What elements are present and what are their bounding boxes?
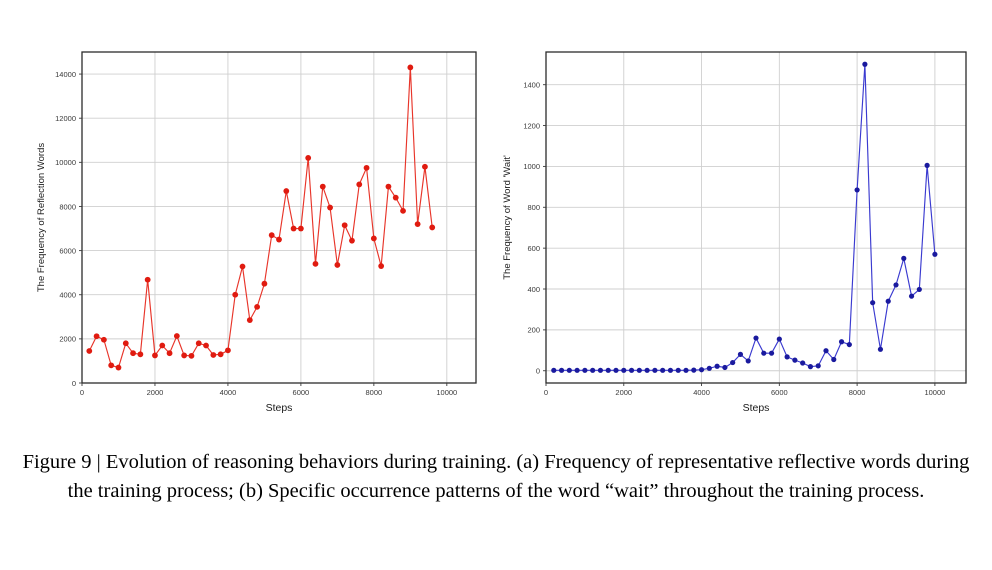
data-point	[218, 351, 224, 357]
data-point	[327, 205, 333, 211]
x-tick-label: 6000	[293, 388, 310, 397]
data-point	[769, 351, 774, 356]
data-point	[86, 348, 92, 354]
data-point	[342, 222, 348, 228]
y-tick-label: 200	[527, 326, 540, 335]
data-point	[189, 353, 195, 359]
data-point	[225, 347, 231, 353]
data-point	[181, 353, 187, 359]
data-point	[582, 368, 587, 373]
data-point	[668, 368, 673, 373]
data-point	[145, 277, 151, 283]
data-point	[699, 367, 704, 372]
data-point	[613, 368, 618, 373]
data-point	[210, 352, 216, 358]
data-point	[590, 368, 595, 373]
data-point	[232, 292, 238, 298]
data-point	[753, 335, 758, 340]
data-point	[137, 351, 143, 357]
data-point	[878, 347, 883, 352]
x-tick-label: 4000	[220, 388, 237, 397]
data-point	[371, 236, 377, 242]
data-point	[823, 348, 828, 353]
x-tick-label: 4000	[693, 388, 710, 397]
data-point	[683, 368, 688, 373]
y-tick-label: 6000	[59, 246, 76, 255]
chart-panel-a: 0200040006000800010000020004000600080001…	[22, 0, 492, 440]
data-point	[407, 65, 413, 71]
data-point	[637, 368, 642, 373]
data-point	[909, 294, 914, 299]
data-point	[152, 353, 158, 359]
data-point	[364, 165, 370, 171]
y-tick-label: 1400	[523, 80, 540, 89]
data-point	[94, 333, 100, 339]
data-point	[254, 304, 260, 310]
x-tick-label: 10000	[436, 388, 457, 397]
data-point	[349, 238, 355, 244]
data-point	[422, 164, 428, 170]
y-tick-label: 1000	[523, 162, 540, 171]
data-point	[334, 262, 340, 268]
data-point	[925, 163, 930, 168]
data-point	[722, 365, 727, 370]
data-point	[291, 226, 297, 232]
data-point	[378, 263, 384, 269]
y-tick-label: 800	[527, 203, 540, 212]
data-point	[808, 364, 813, 369]
x-tick-label: 6000	[771, 388, 788, 397]
wait-word-chart: 0200040006000800010000020040060080010001…	[492, 0, 972, 440]
data-point	[901, 256, 906, 261]
data-point	[313, 261, 319, 267]
data-point	[777, 336, 782, 341]
data-point	[917, 287, 922, 292]
y-tick-label: 14000	[55, 70, 76, 79]
chart-panel-b: 0200040006000800010000020040060080010001…	[492, 0, 972, 440]
x-tick-label: 2000	[615, 388, 632, 397]
x-tick-label: 0	[80, 388, 84, 397]
x-axis-title: Steps	[266, 402, 293, 414]
data-point	[800, 360, 805, 365]
data-point	[893, 282, 898, 287]
data-point	[276, 237, 282, 243]
figure-container: 0200040006000800010000020004000600080001…	[0, 0, 992, 440]
x-tick-label: 8000	[366, 388, 383, 397]
data-point	[298, 226, 304, 232]
y-tick-label: 2000	[59, 335, 76, 344]
data-point	[676, 368, 681, 373]
data-point	[159, 343, 165, 349]
data-point	[393, 195, 399, 201]
x-tick-label: 2000	[147, 388, 164, 397]
data-point	[598, 368, 603, 373]
data-point	[621, 368, 626, 373]
y-tick-label: 8000	[59, 202, 76, 211]
data-point	[559, 368, 564, 373]
data-point	[855, 187, 860, 192]
data-point	[108, 362, 114, 368]
data-point	[269, 232, 275, 238]
data-point	[606, 368, 611, 373]
data-point	[839, 339, 844, 344]
y-tick-label: 0	[72, 379, 76, 388]
data-point	[400, 208, 406, 214]
x-tick-label: 0	[544, 388, 548, 397]
data-point	[932, 252, 937, 257]
data-point	[356, 182, 362, 188]
reflection-words-chart: 0200040006000800010000020004000600080001…	[22, 0, 492, 440]
data-point	[116, 365, 122, 371]
y-tick-label: 1200	[523, 121, 540, 130]
data-point	[575, 368, 580, 373]
data-point	[730, 360, 735, 365]
data-point	[652, 368, 657, 373]
data-point	[870, 300, 875, 305]
data-point	[262, 281, 268, 287]
data-point	[320, 184, 326, 190]
data-point	[415, 221, 421, 227]
data-point	[847, 342, 852, 347]
data-point	[785, 354, 790, 359]
x-tick-label: 8000	[849, 388, 866, 397]
data-point	[645, 368, 650, 373]
x-axis-title: Steps	[743, 402, 770, 414]
data-point	[386, 184, 392, 190]
data-point	[886, 299, 891, 304]
data-point	[862, 62, 867, 67]
data-point	[660, 368, 665, 373]
data-point	[130, 350, 136, 356]
data-point	[831, 357, 836, 362]
data-point	[247, 317, 253, 323]
data-point	[567, 368, 572, 373]
data-point	[101, 337, 107, 343]
y-tick-label: 600	[527, 244, 540, 253]
data-point	[203, 343, 209, 349]
data-point	[792, 358, 797, 363]
data-point	[707, 366, 712, 371]
y-tick-label: 12000	[55, 114, 76, 123]
y-axis-title: The Frequency of Reflection Words	[36, 143, 47, 293]
data-point	[123, 340, 129, 346]
y-tick-label: 400	[527, 285, 540, 294]
y-tick-label: 4000	[59, 291, 76, 300]
data-point	[816, 363, 821, 368]
y-tick-label: 0	[536, 367, 540, 376]
data-point	[167, 350, 173, 356]
data-point	[746, 358, 751, 363]
data-point	[738, 352, 743, 357]
x-tick-label: 10000	[924, 388, 945, 397]
data-point	[429, 225, 435, 231]
figure-caption: Figure 9 | Evolution of reasoning behavi…	[0, 440, 992, 506]
data-point	[691, 368, 696, 373]
data-point	[283, 188, 289, 194]
y-axis-title: The Frequency of Word 'Wait'	[502, 155, 513, 280]
data-point	[761, 351, 766, 356]
data-point	[174, 333, 180, 339]
data-point	[551, 368, 556, 373]
data-point	[196, 340, 202, 346]
data-point	[305, 155, 311, 161]
data-point	[715, 364, 720, 369]
y-tick-label: 10000	[55, 158, 76, 167]
data-point	[240, 264, 246, 270]
data-point	[629, 368, 634, 373]
